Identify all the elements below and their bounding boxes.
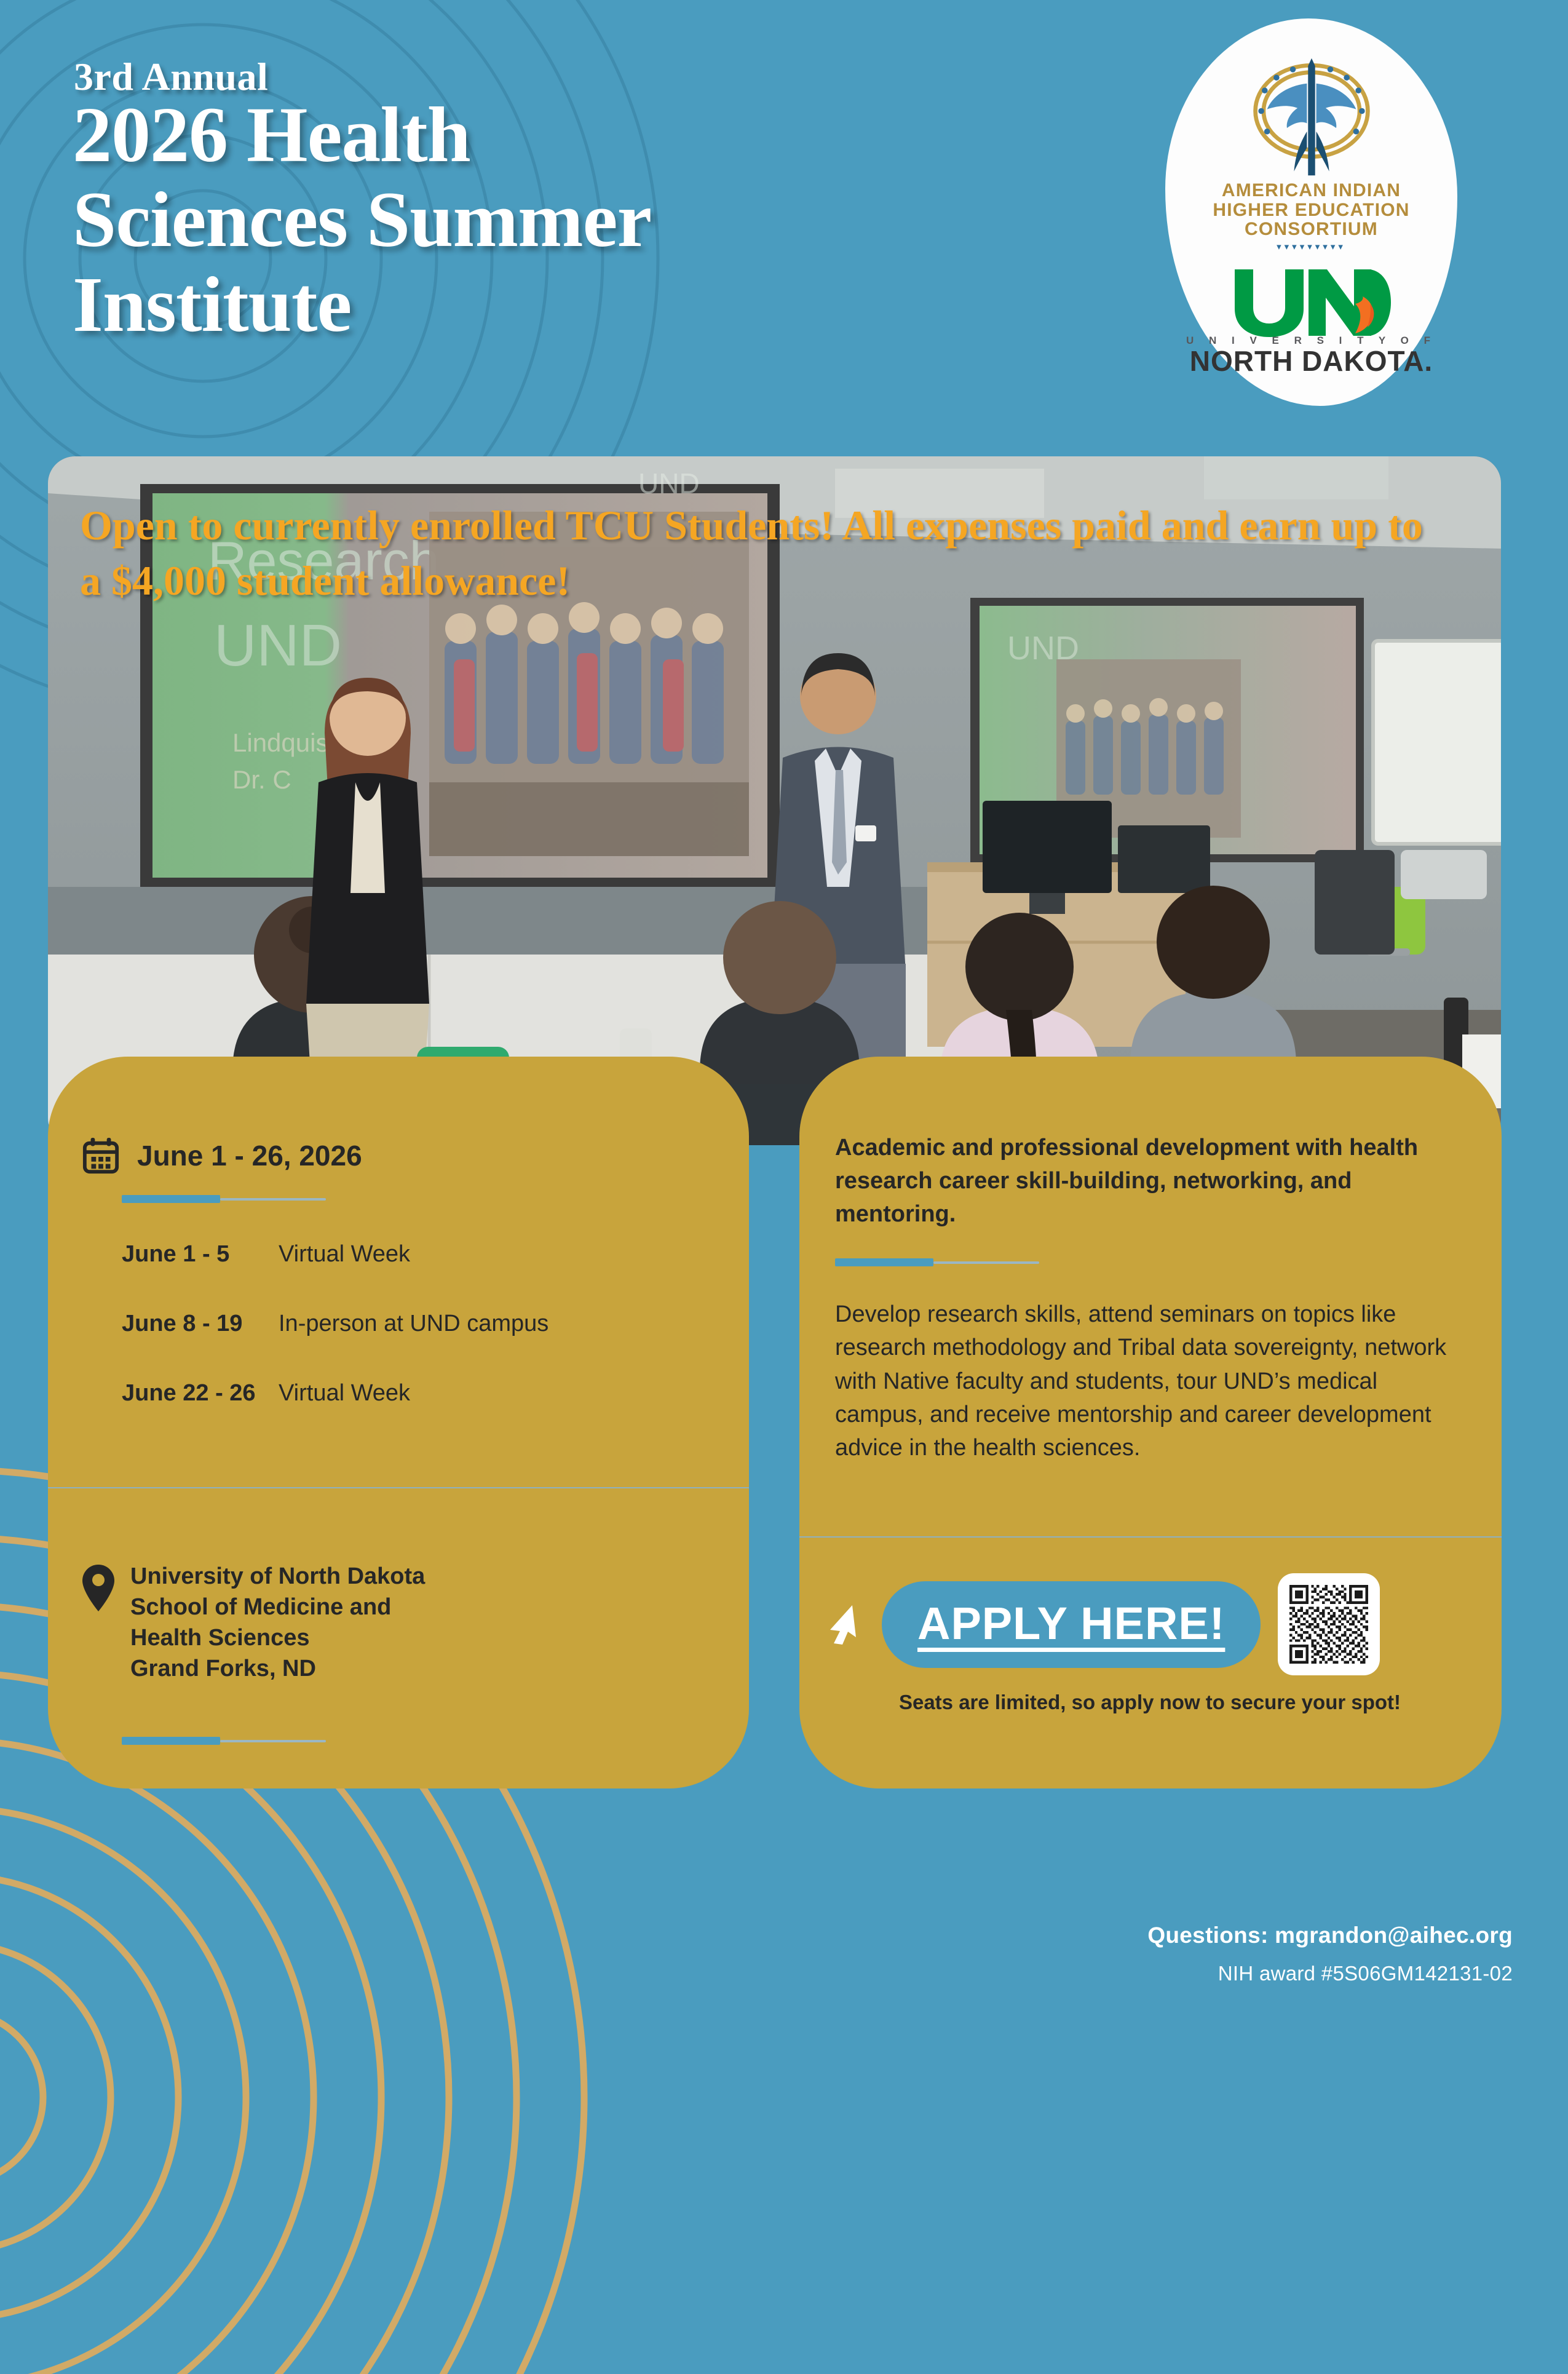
schedule-date: June 22 - 26 [122, 1380, 279, 1407]
divider-segment-accent [122, 1737, 220, 1745]
location-line-2: School of Medicine and [130, 1592, 425, 1622]
schedule-list: June 1 - 5 Virtual Week June 8 - 19 In-p… [122, 1241, 712, 1450]
title-line-3: Institute [73, 262, 1118, 347]
cursor-arrow-icon [825, 1603, 865, 1646]
apply-row: APPLY HERE! [825, 1573, 1380, 1675]
schedule-row: June 22 - 26 Virtual Week [122, 1380, 712, 1407]
schedule-label: In-person at UND campus [279, 1311, 548, 1337]
und-wordmark-icon [1230, 264, 1393, 338]
program-description: Develop research skills, attend seminars… [835, 1298, 1456, 1465]
schedule-date: June 8 - 19 [122, 1311, 279, 1337]
schedule-row: June 1 - 5 Virtual Week [122, 1241, 712, 1268]
divider-segment-accent [122, 1195, 220, 1203]
aihec-line-1: AMERICAN INDIAN [1213, 181, 1409, 200]
apply-here-button[interactable]: APPLY HERE! [882, 1581, 1261, 1668]
divider-segment-muted [220, 1198, 326, 1201]
und-logo: U N I V E R S I T Y O F NORTH DAKOTA. [1186, 264, 1436, 378]
title-line-2: Sciences Summer [73, 177, 1118, 262]
divider-top-left-card [122, 1195, 326, 1203]
schedule-row: June 8 - 19 In-person at UND campus [122, 1311, 712, 1337]
dates-card: June 1 - 26, 2026 June 1 - 5 Virtual Wee… [48, 1057, 749, 1788]
details-card: Academic and professional development wi… [799, 1057, 1502, 1788]
page-title: 2026 Health Sciences Summer Institute [73, 92, 1118, 347]
divider-bottom-left-card [122, 1737, 326, 1745]
aihec-chevron-rule-icon: ▾▾▾▾▾▾▾▾▾ [1277, 241, 1346, 252]
aihec-eagle-icon [1241, 55, 1382, 178]
poster-footer: Questions: mgrandon@aihec.org NIH award … [1147, 1923, 1513, 1985]
seats-note: Seats are limited, so apply now to secur… [836, 1689, 1463, 1717]
title-line-1: 2026 Health [73, 92, 1118, 177]
horizontal-rule-left-card [48, 1487, 749, 1488]
apply-here-label: APPLY HERE! [917, 1597, 1225, 1649]
location-pin-icon [82, 1565, 114, 1611]
und-north-dakota: NORTH DAKOTA. [1190, 344, 1433, 378]
divider-segment-muted [933, 1261, 1039, 1264]
qr-code[interactable] [1278, 1573, 1380, 1675]
schedule-date: June 1 - 5 [122, 1241, 279, 1268]
schedule-label: Virtual Week [279, 1380, 410, 1407]
horizontal-rule-right-card [799, 1536, 1502, 1538]
location-address: University of North Dakota School of Med… [130, 1561, 425, 1685]
logo-blob: AMERICAN INDIAN HIGHER EDUCATION CONSORT… [1165, 18, 1457, 406]
calendar-icon [82, 1137, 120, 1175]
svg-text:Dr. C: Dr. C [232, 765, 291, 794]
location-row: University of North Dakota School of Med… [82, 1561, 425, 1685]
und-subtitle: U N I V E R S I T Y O F NORTH DAKOTA. [1186, 335, 1436, 378]
divider-top-right-card [835, 1258, 1039, 1266]
date-range-title: June 1 - 26, 2026 [137, 1139, 362, 1172]
svg-text:UND: UND [638, 467, 700, 499]
banner-headline: Open to currently enrolled TCU Students!… [80, 498, 1451, 609]
program-headline: Academic and professional development wi… [835, 1132, 1450, 1231]
qr-code-image [1289, 1585, 1368, 1664]
svg-text:UND: UND [214, 613, 342, 678]
location-line-4: Grand Forks, ND [130, 1653, 425, 1684]
nih-award: NIH award #5S06GM142131-02 [1147, 1962, 1513, 1985]
aihec-line-2: HIGHER EDUCATION [1213, 200, 1409, 220]
divider-segment-accent [835, 1258, 933, 1266]
schedule-label: Virtual Week [279, 1241, 410, 1268]
location-line-1: University of North Dakota [130, 1561, 425, 1592]
location-line-3: Health Sciences [130, 1622, 425, 1653]
calendar-heading-row: June 1 - 26, 2026 [82, 1137, 362, 1175]
aihec-line-3: CONSORTIUM [1213, 220, 1409, 239]
contact-questions: Questions: mgrandon@aihec.org [1147, 1923, 1513, 1948]
divider-segment-muted [220, 1740, 326, 1742]
aihec-wordmark: AMERICAN INDIAN HIGHER EDUCATION CONSORT… [1213, 181, 1409, 239]
aihec-logo: AMERICAN INDIAN HIGHER EDUCATION CONSORT… [1210, 55, 1413, 252]
